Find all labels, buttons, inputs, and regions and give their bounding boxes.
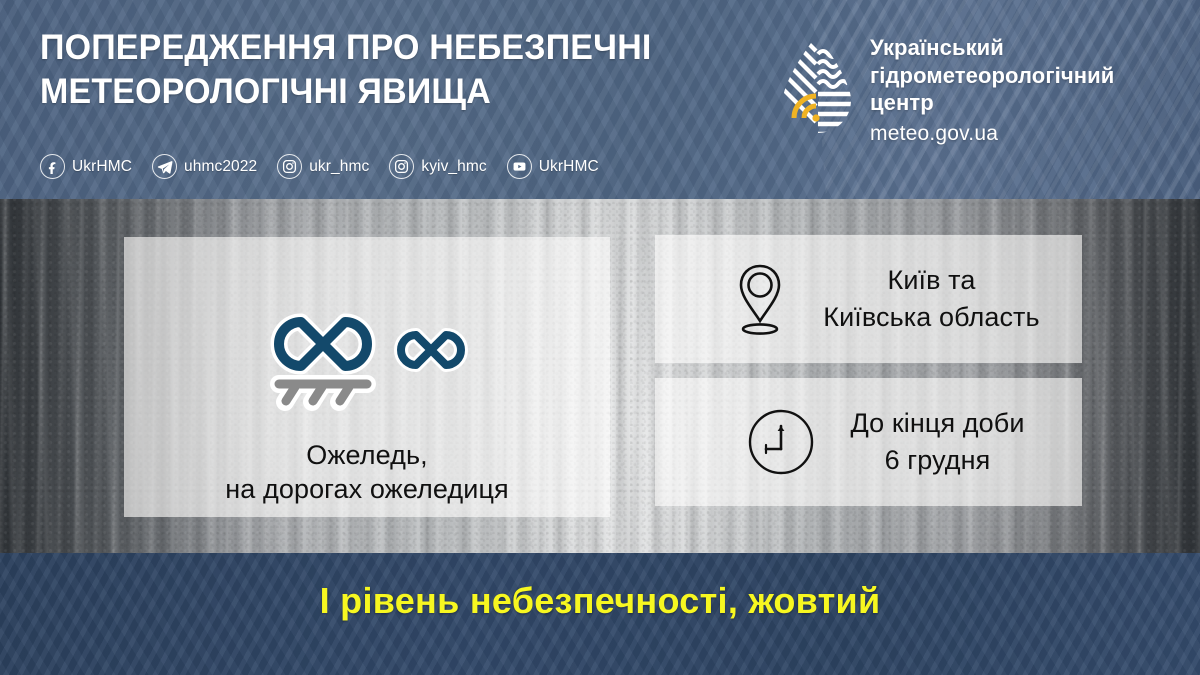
social-link-instagram-kyiv[interactable]: kyiv_hmc	[389, 154, 486, 179]
social-handle-instagram-kyiv: kyiv_hmc	[421, 158, 486, 176]
hazard-description-line-1: Ожеледь,	[225, 438, 509, 472]
period-line-1: До кінця доби	[850, 405, 1024, 442]
brand-website-url[interactable]: meteo.gov.ua	[870, 119, 1114, 149]
page-title: ПОПЕРЕДЖЕННЯ ПРО НЕБЕЗПЕЧНІ МЕТЕОРОЛОГІЧ…	[40, 26, 758, 114]
social-link-telegram[interactable]: uhmc2022	[152, 154, 257, 179]
footer-band: І рівень небезпечності, жовтий	[0, 553, 1200, 675]
page-title-line-2: МЕТЕОРОЛОГІЧНІ ЯВИЩА	[40, 70, 758, 114]
brand-logo[interactable]: Український гідрометеорологічний центр m…	[782, 34, 1114, 149]
social-link-instagram-ukr[interactable]: ukr_hmc	[277, 154, 369, 179]
instagram-icon	[277, 154, 302, 179]
period-panel: До кінця доби 6 грудня	[655, 378, 1082, 506]
facebook-icon	[40, 154, 65, 179]
clock-icon	[746, 407, 816, 477]
period-line-2: 6 грудня	[850, 442, 1024, 479]
social-handle-facebook: UkrHMC	[72, 158, 132, 176]
page-title-line-1: ПОПЕРЕДЖЕННЯ ПРО НЕБЕЗПЕЧНІ	[40, 26, 758, 70]
region-line-2: Київська область	[823, 299, 1039, 336]
social-handle-telegram: uhmc2022	[184, 158, 257, 176]
instagram-icon	[389, 154, 414, 179]
header-band: ПОПЕРЕДЖЕННЯ ПРО НЕБЕЗПЕЧНІ МЕТЕОРОЛОГІЧ…	[0, 0, 1200, 199]
danger-level-text: І рівень небезпечності, жовтий	[320, 580, 881, 622]
social-link-youtube[interactable]: UkrHMC	[507, 154, 599, 179]
hazard-description: Ожеледь, на дорогах ожеледиця	[225, 438, 509, 506]
hazard-description-line-2: на дорогах ожеледиця	[225, 472, 509, 506]
brand-name-line-2: гідрометеорологічний	[870, 62, 1114, 90]
youtube-icon	[507, 154, 532, 179]
region-line-1: Київ та	[823, 262, 1039, 299]
glaze-ice-on-road-icon	[237, 302, 497, 414]
social-handle-instagram-ukr: ukr_hmc	[309, 158, 369, 176]
telegram-icon	[152, 154, 177, 179]
weather-warning-poster: ПОПЕРЕДЖЕННЯ ПРО НЕБЕЗПЕЧНІ МЕТЕОРОЛОГІЧ…	[0, 0, 1200, 675]
period-description: До кінця доби 6 грудня	[850, 405, 1024, 479]
region-description: Київ та Київська область	[823, 262, 1039, 336]
social-links: UkrHMC uhmc2022 ukr_hm	[40, 154, 619, 179]
ukrhmc-droplet-logo-icon	[782, 34, 852, 134]
hazard-panel: Ожеледь, на дорогах ожеледиця	[124, 237, 610, 517]
region-panel: Київ та Київська область	[655, 235, 1082, 363]
social-link-facebook[interactable]: UkrHMC	[40, 154, 132, 179]
social-handle-youtube: UkrHMC	[539, 158, 599, 176]
brand-name-line-1: Український	[870, 34, 1114, 62]
brand-name-line-3: центр	[870, 89, 1114, 117]
location-pin-icon	[731, 261, 789, 337]
brand-name: Український гідрометеорологічний центр m…	[870, 34, 1114, 149]
